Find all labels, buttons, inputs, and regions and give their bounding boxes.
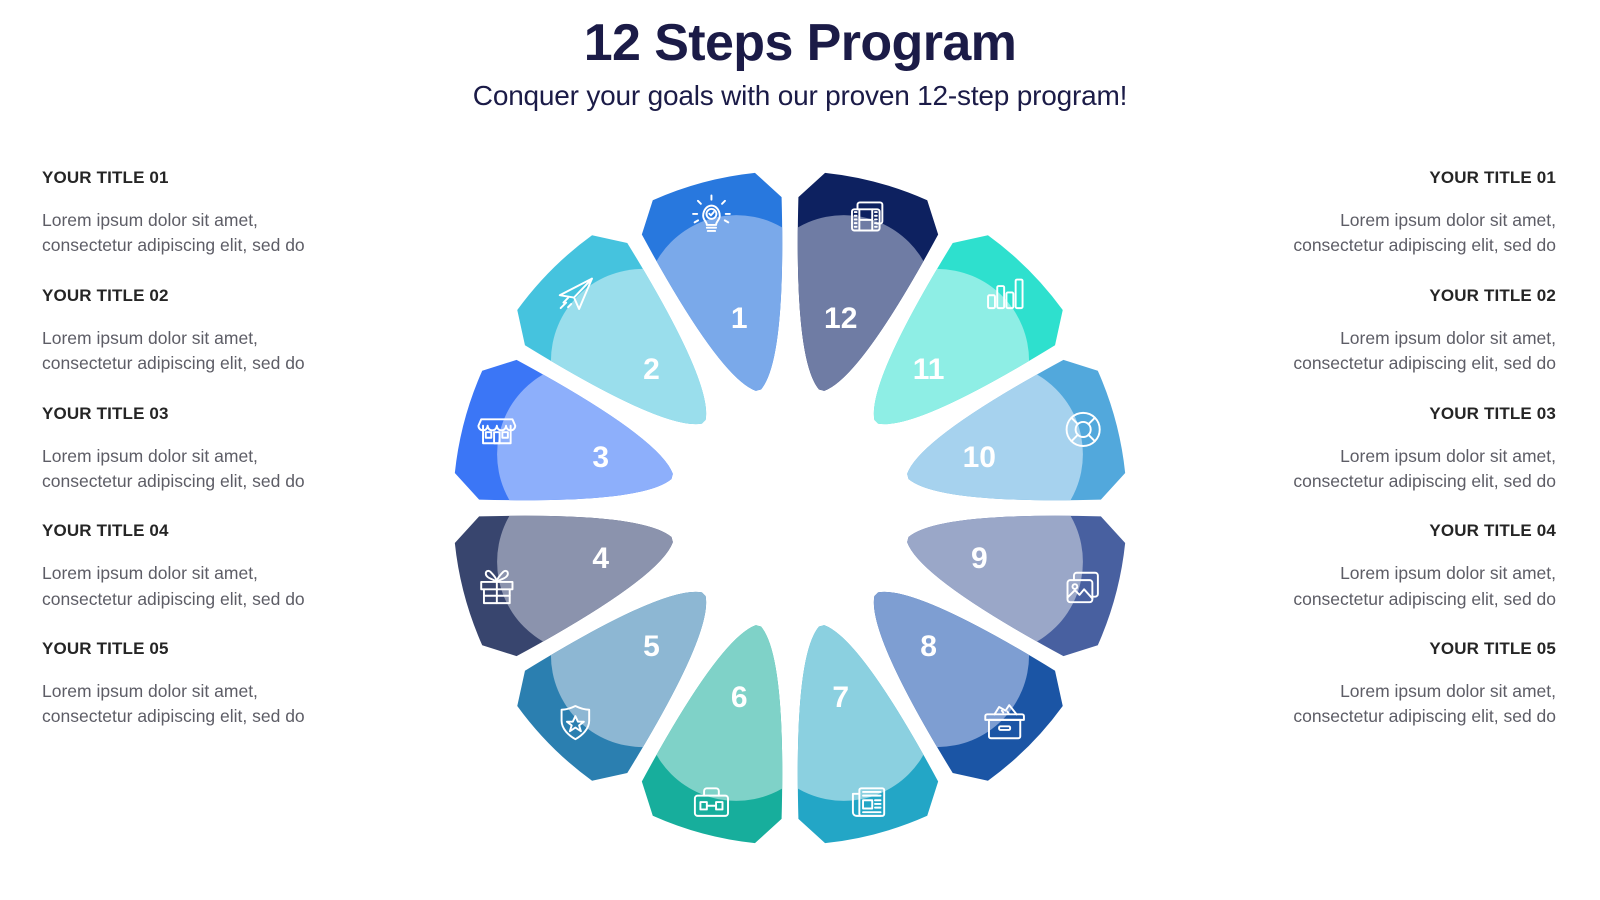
item-title: YOUR TITLE 01 bbox=[1196, 168, 1556, 188]
twelve-step-wheel: 1 2 3 4 bbox=[440, 158, 1140, 858]
segment-number-label: 10 bbox=[963, 441, 996, 474]
list-item[interactable]: YOUR TITLE 05 Lorem ipsum dolor sit amet… bbox=[42, 639, 402, 730]
list-item[interactable]: YOUR TITLE 05 Lorem ipsum dolor sit amet… bbox=[1196, 639, 1556, 730]
left-text-column: YOUR TITLE 01 Lorem ipsum dolor sit amet… bbox=[42, 168, 402, 730]
item-body: Lorem ipsum dolor sit amet, consectetur … bbox=[1196, 208, 1556, 259]
item-body: Lorem ipsum dolor sit amet, consectetur … bbox=[42, 561, 402, 612]
item-title: YOUR TITLE 05 bbox=[1196, 639, 1556, 659]
infographic-page: 12 Steps Program Conquer your goals with… bbox=[0, 0, 1600, 900]
segment-number-label: 7 bbox=[832, 681, 849, 714]
item-title: YOUR TITLE 02 bbox=[42, 286, 402, 306]
segment-number-label: 5 bbox=[643, 630, 660, 663]
segment-number-label: 3 bbox=[592, 441, 609, 474]
page-title: 12 Steps Program bbox=[0, 14, 1600, 72]
list-item[interactable]: YOUR TITLE 01 Lorem ipsum dolor sit amet… bbox=[1196, 168, 1556, 259]
item-title: YOUR TITLE 05 bbox=[42, 639, 402, 659]
item-body: Lorem ipsum dolor sit amet, consectetur … bbox=[1196, 679, 1556, 730]
item-body: Lorem ipsum dolor sit amet, consectetur … bbox=[1196, 444, 1556, 495]
wheel-svg: 1 2 3 4 bbox=[440, 158, 1140, 858]
list-item[interactable]: YOUR TITLE 02 Lorem ipsum dolor sit amet… bbox=[1196, 286, 1556, 377]
page-subtitle: Conquer your goals with our proven 12-st… bbox=[0, 80, 1600, 112]
right-text-column: YOUR TITLE 01 Lorem ipsum dolor sit amet… bbox=[1196, 168, 1556, 730]
item-body: Lorem ipsum dolor sit amet, consectetur … bbox=[42, 444, 402, 495]
segment-number-label: 1 bbox=[731, 302, 748, 335]
item-title: YOUR TITLE 04 bbox=[42, 521, 402, 541]
list-item[interactable]: YOUR TITLE 02 Lorem ipsum dolor sit amet… bbox=[42, 286, 402, 377]
item-body: Lorem ipsum dolor sit amet, consectetur … bbox=[42, 326, 402, 377]
segment-number-label: 12 bbox=[824, 302, 857, 335]
list-item[interactable]: YOUR TITLE 03 Lorem ipsum dolor sit amet… bbox=[1196, 404, 1556, 495]
item-title: YOUR TITLE 01 bbox=[42, 168, 402, 188]
header: 12 Steps Program Conquer your goals with… bbox=[0, 14, 1600, 112]
list-item[interactable]: YOUR TITLE 01 Lorem ipsum dolor sit amet… bbox=[42, 168, 402, 259]
item-body: Lorem ipsum dolor sit amet, consectetur … bbox=[42, 208, 402, 259]
item-body: Lorem ipsum dolor sit amet, consectetur … bbox=[42, 679, 402, 730]
segment-number-label: 9 bbox=[971, 542, 988, 575]
item-title: YOUR TITLE 04 bbox=[1196, 521, 1556, 541]
list-item[interactable]: YOUR TITLE 04 Lorem ipsum dolor sit amet… bbox=[1196, 521, 1556, 612]
item-title: YOUR TITLE 02 bbox=[1196, 286, 1556, 306]
segment-number-label: 11 bbox=[913, 353, 945, 386]
segment-number-label: 8 bbox=[920, 630, 937, 663]
item-body: Lorem ipsum dolor sit amet, consectetur … bbox=[1196, 326, 1556, 377]
list-item[interactable]: YOUR TITLE 03 Lorem ipsum dolor sit amet… bbox=[42, 404, 402, 495]
item-title: YOUR TITLE 03 bbox=[42, 404, 402, 424]
segment-number-label: 6 bbox=[731, 681, 748, 714]
segment-number-label: 4 bbox=[592, 542, 609, 575]
segment-number-label: 2 bbox=[643, 353, 660, 386]
list-item[interactable]: YOUR TITLE 04 Lorem ipsum dolor sit amet… bbox=[42, 521, 402, 612]
item-body: Lorem ipsum dolor sit amet, consectetur … bbox=[1196, 561, 1556, 612]
item-title: YOUR TITLE 03 bbox=[1196, 404, 1556, 424]
